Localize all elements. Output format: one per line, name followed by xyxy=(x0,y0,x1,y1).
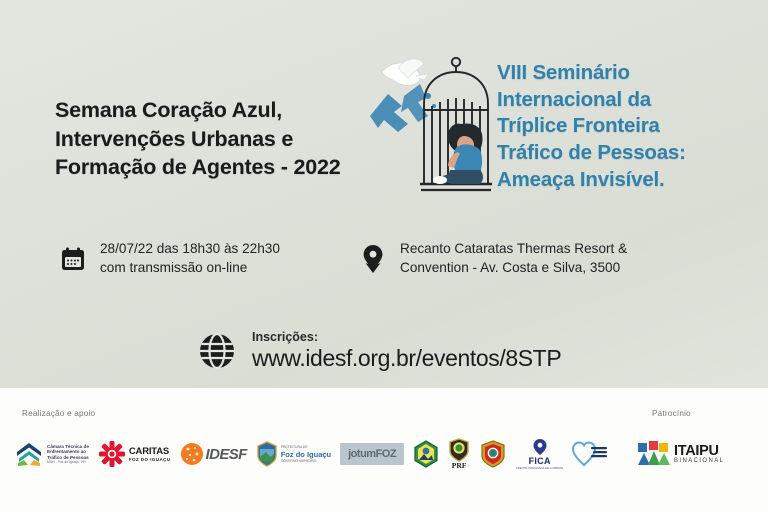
logo-prefeitura-foz: PREFEITURA DE Foz do Iguaçu GOVERNO MUNI… xyxy=(256,432,331,476)
logo-idesf-title: IDESF xyxy=(206,446,247,463)
logo-camara-line-2: Enfrentamento ao xyxy=(47,449,89,454)
event-location-row: Recanto Cataratas Thermas Resort & Conve… xyxy=(358,240,627,278)
registration-text: Inscrições: www.idesf.org.br/eventos/8ST… xyxy=(252,330,561,372)
calendar-icon xyxy=(58,242,88,276)
woman-in-birdcage-illustration xyxy=(368,44,500,196)
right-title-line-3: Tríplice Fronteira xyxy=(497,113,686,140)
event-location-text: Recanto Cataratas Thermas Resort & Conve… xyxy=(400,240,627,278)
event-location-line-1: Recanto Cataratas Thermas Resort & xyxy=(400,240,627,259)
globe-icon xyxy=(196,330,238,372)
logo-jotum-foz: jotumFOZ xyxy=(340,432,404,476)
logo-prf: PRF xyxy=(448,432,470,476)
left-title-line-2: Intervenções Urbanas e xyxy=(55,125,341,154)
right-title-line-1: VIII Seminário xyxy=(497,60,686,87)
registration-block[interactable]: Inscrições: www.idesf.org.br/eventos/8ST… xyxy=(196,330,561,372)
left-title-line-1: Semana Coração Azul, xyxy=(55,96,341,125)
left-event-title: Semana Coração Azul, Intervenções Urbana… xyxy=(55,96,341,182)
logo-policia-federal xyxy=(479,432,507,476)
event-location-line-2: Convention - Av. Costa e Silva, 3500 xyxy=(400,259,627,278)
logo-caritas: CARITAS FOZ DO IGUAÇU xyxy=(98,432,171,476)
logo-prefeitura-subtitle: GOVERNO MUNICIPAL xyxy=(281,459,331,463)
logo-jotum-foz-title: jotumFOZ xyxy=(340,443,404,465)
event-date-row: 28/07/22 das 18h30 às 22h30 com transmis… xyxy=(58,240,280,278)
right-title-line-5: Ameaça Invisível. xyxy=(497,167,686,194)
logo-itaipu-binacional: ITAIPU BINACIONAL xyxy=(636,432,724,476)
logo-camara-tecnica: Câmara Técnica de Enfrentamento ao Tráfi… xyxy=(14,432,89,476)
realizacao-label: Realização e apoio xyxy=(22,409,95,418)
map-pin-icon xyxy=(358,242,388,276)
logo-idesf: IDESF xyxy=(180,432,247,476)
left-title-line-3: Formação de Agentes - 2022 xyxy=(55,153,341,182)
logo-itaipu-subtitle: BINACIONAL xyxy=(674,458,724,464)
sponsor-logo-strip: Câmara Técnica de Enfrentamento ao Tráfi… xyxy=(14,430,608,478)
patrocinador-logo-strip: ITAIPU BINACIONAL xyxy=(636,430,724,478)
registration-url[interactable]: www.idesf.org.br/eventos/8STP xyxy=(252,345,561,372)
event-poster: Semana Coração Azul, Intervenções Urbana… xyxy=(0,0,768,513)
logo-coracao-azul-heart xyxy=(572,432,608,476)
logo-fica-title: FICA xyxy=(529,456,551,466)
logo-fica-subtitle: FRENTE INTEGRADA DE COMBATE xyxy=(516,466,563,470)
logo-hexagon-badge xyxy=(413,432,439,476)
logo-caritas-subtitle: FOZ DO IGUAÇU xyxy=(129,457,171,462)
dove-icon xyxy=(382,59,428,85)
right-title-line-4: Tráfico de Pessoas: xyxy=(497,140,686,167)
event-date-text: 28/07/22 das 18h30 às 22h30 com transmis… xyxy=(100,240,280,278)
event-date-line-2: com transmissão on-line xyxy=(100,259,280,278)
right-event-title: VIII Seminário Internacional da Tríplice… xyxy=(497,60,686,193)
logo-prf-title: PRF xyxy=(452,461,467,470)
right-title-line-2: Internacional da xyxy=(497,87,686,114)
logo-fica: FICA FRENTE INTEGRADA DE COMBATE xyxy=(516,432,563,476)
logo-caritas-title: CARITAS xyxy=(129,446,171,457)
patrocinio-label: Patrocínio xyxy=(652,409,691,418)
blue-ribbon-arrow-icon xyxy=(370,84,428,132)
event-date-line-1: 28/07/22 das 18h30 às 22h30 xyxy=(100,240,280,259)
logo-itaipu-title: ITAIPU xyxy=(674,444,724,459)
logo-prefeitura-line-2: Foz do Iguaçu xyxy=(281,450,331,459)
registration-label: Inscrições: xyxy=(252,330,561,344)
logo-camara-subtitle: MDH - Foz do Iguaçu, PR xyxy=(47,460,89,464)
